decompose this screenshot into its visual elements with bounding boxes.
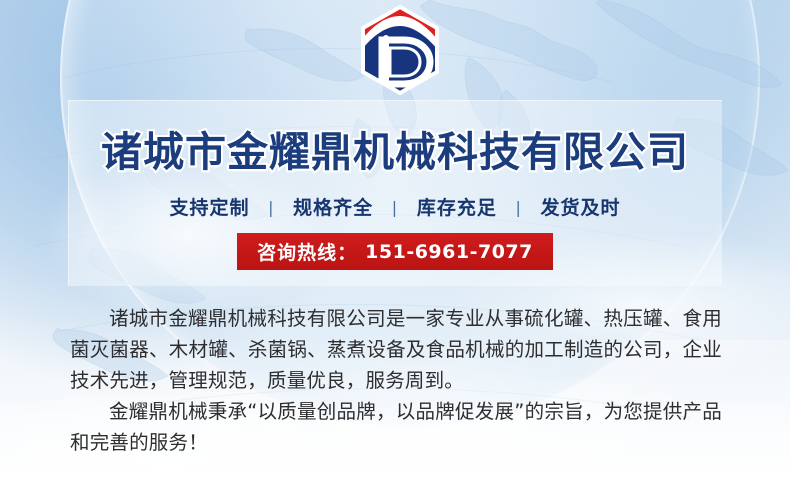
company-banner: 诸城市金耀鼎机械科技有限公司 支持定制 | 规格齐全 | 库存充足 | 发货及时… xyxy=(0,0,790,483)
page-title: 诸城市金耀鼎机械科技有限公司 xyxy=(0,125,790,179)
feature-strip: 支持定制 | 规格齐全 | 库存充足 | 发货及时 xyxy=(0,193,790,220)
feature-item-0: 支持定制 xyxy=(168,197,252,219)
description-paragraph-1: 金耀鼎机械秉承“以质量创品牌，以品牌促发展”的宗旨，为您提供产品和完善的服务！ xyxy=(70,396,722,458)
feature-item-2: 库存充足 xyxy=(415,197,499,219)
hotline-number: 151-6961-7077 xyxy=(365,241,533,263)
feature-separator: | xyxy=(383,198,407,217)
feature-separator: | xyxy=(506,198,530,217)
company-description: 诸城市金耀鼎机械科技有限公司是一家专业从事硫化罐、热压罐、食用菌灭菌器、木材罐、… xyxy=(70,303,722,458)
hotline-label: 咨询热线： xyxy=(257,238,357,265)
feature-separator: | xyxy=(259,198,283,217)
feature-item-1: 规格齐全 xyxy=(291,197,375,219)
hotline-banner: 咨询热线： 151-6961-7077 xyxy=(237,233,553,270)
description-paragraph-0: 诸城市金耀鼎机械科技有限公司是一家专业从事硫化罐、热压罐、食用菌灭菌器、木材罐、… xyxy=(70,303,722,396)
company-logo-icon xyxy=(356,4,444,96)
feature-item-3: 发货及时 xyxy=(538,197,622,219)
